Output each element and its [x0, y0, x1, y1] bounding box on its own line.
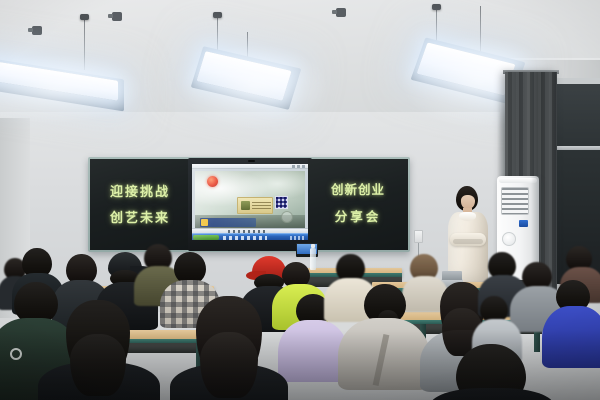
ceiling-light-left	[0, 14, 130, 114]
system-tray-icons[interactable]	[290, 236, 306, 240]
display-screen[interactable]	[192, 164, 308, 240]
qr-code-icon	[275, 196, 288, 209]
light-hook	[213, 12, 222, 18]
start-button-icon[interactable]	[193, 235, 219, 240]
presenter-face	[461, 195, 475, 209]
shoulder-logo-icon	[10, 348, 22, 360]
taskbar[interactable]	[192, 233, 308, 240]
interactive-flat-panel[interactable]	[188, 158, 312, 251]
presenter-arm-shadow	[453, 239, 483, 244]
power-outlet-icon[interactable]	[414, 230, 423, 243]
broadcast-banner-icon	[200, 218, 256, 227]
chalk-text-left-line2: 创艺未来	[90, 207, 190, 226]
light-hook	[432, 4, 441, 10]
webcam-icon	[248, 160, 255, 162]
window-titlebar	[192, 164, 308, 169]
blackboard: 迎接挑战 创艺未来	[88, 157, 410, 252]
student-front-mid	[44, 300, 154, 400]
air-vent-icon	[501, 187, 529, 215]
ac-knob[interactable]	[502, 232, 516, 246]
chalk-text-left-line1: 迎接挑战	[90, 181, 190, 200]
student-torso	[430, 388, 554, 400]
presenter-collar	[459, 212, 476, 221]
seal-icon	[241, 201, 250, 210]
ceiling-mount-right	[336, 8, 346, 17]
blackboard-left-panel: 迎接挑战 创艺未来	[90, 159, 190, 250]
bottle-cap	[311, 244, 315, 248]
blackboard-right-panel: 创新创业 分享会	[308, 159, 408, 250]
national-emblem-icon	[207, 176, 218, 187]
student-right-blue	[544, 280, 600, 364]
chalk-text-right-line1: 创新创业	[308, 179, 408, 198]
classroom-photo: 迎接挑战 创艺未来	[0, 0, 600, 400]
chalk-text-right-line2: 分享会	[308, 206, 408, 225]
student-front-right	[440, 344, 544, 400]
student-gray-bun	[344, 284, 424, 384]
light-wire	[480, 6, 481, 56]
certificate-icon	[237, 197, 273, 214]
light-wire	[84, 20, 85, 70]
student-hair-drape	[70, 334, 126, 396]
ac-display-icon	[519, 220, 528, 227]
student-torso	[542, 306, 600, 368]
ceiling-light-center	[185, 14, 325, 124]
student-hair-drape	[200, 332, 258, 398]
student-front-center	[178, 296, 280, 400]
taskbar-app-icons[interactable]	[223, 236, 267, 240]
window-controls-icon[interactable]	[292, 165, 306, 168]
round-stamp-icon	[281, 211, 293, 223]
light-hook	[80, 14, 89, 20]
certificate-text-lines	[252, 202, 271, 209]
video-content	[195, 171, 305, 229]
